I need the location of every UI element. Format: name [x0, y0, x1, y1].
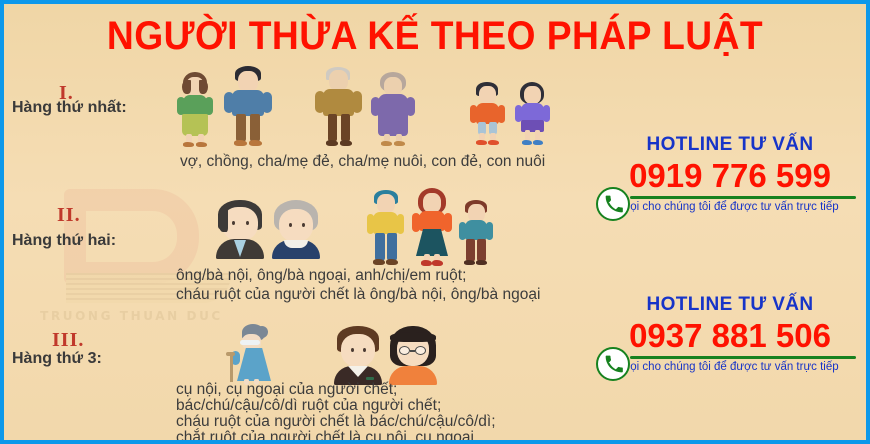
hotline-1-number: 0919 776 599	[596, 157, 864, 195]
portrait-nephew	[332, 326, 384, 384]
figure-wife	[172, 72, 218, 147]
row-1-label: Hàng thứ nhất:	[12, 99, 127, 117]
hotline-1-subtitle: Gọi cho chúng tôi để được tư vấn trực ti…	[596, 201, 864, 213]
figure-elderly-mother	[369, 72, 417, 148]
hotline-2-underline	[630, 356, 856, 359]
hotline-1-heading: HOTLINE TƯ VẤN	[596, 134, 864, 156]
hotline-block-1[interactable]: HOTLINE TƯ VẤN 0919 776 599 Gọi cho chún…	[596, 134, 864, 213]
figure-husband	[222, 66, 274, 148]
infographic-poster: TRUONG THUAN DUC NGƯỜI THỪA KẾ THEO PHÁP…	[0, 0, 870, 444]
phone-icon	[596, 347, 630, 381]
phone-icon	[596, 187, 630, 221]
portrait-niece	[387, 326, 439, 384]
figure-daughter-child	[512, 82, 554, 148]
row-3-numeral: III.	[52, 329, 84, 352]
figure-sister	[409, 188, 455, 268]
figure-younger-brother	[456, 200, 496, 268]
hotline-block-2[interactable]: HOTLINE TƯ VẤN 0937 881 506 Gọi cho chún…	[596, 294, 864, 373]
portrait-grandmother	[270, 200, 322, 258]
row-2-text-line-2: cháu ruột của người chết là ông/bà nội, …	[176, 285, 540, 304]
figure-great-grandmother	[222, 324, 278, 386]
portrait-grandfather	[214, 200, 266, 258]
hotline-1-underline	[630, 196, 856, 199]
figure-son-child	[467, 82, 509, 148]
hotline-2-number: 0937 881 506	[596, 317, 864, 355]
hotline-2-heading: HOTLINE TƯ VẤN	[596, 294, 864, 316]
row-2-numeral: II.	[57, 204, 81, 227]
hotline-2-subtitle: Gọi cho chúng tôi để được tư vấn trực ti…	[596, 361, 864, 373]
page-title: NGƯỜI THỪA KẾ THEO PHÁP LUẬT	[34, 14, 836, 59]
figure-brother	[364, 190, 408, 268]
row-1-text-line-1: vợ, chồng, cha/mẹ đẻ, cha/mẹ nuôi, con đ…	[180, 152, 545, 171]
row-2-text-line-1: ông/bà nội, ông/bà ngoại, anh/chị/em ruộ…	[176, 266, 466, 285]
row-3-text-line-4: chắt ruột của người chết là cụ nội, cụ n…	[176, 428, 478, 444]
figure-elderly-father	[314, 66, 364, 148]
row-2-label: Hàng thứ hai:	[12, 232, 116, 250]
row-3-label: Hàng thứ 3:	[12, 350, 102, 368]
